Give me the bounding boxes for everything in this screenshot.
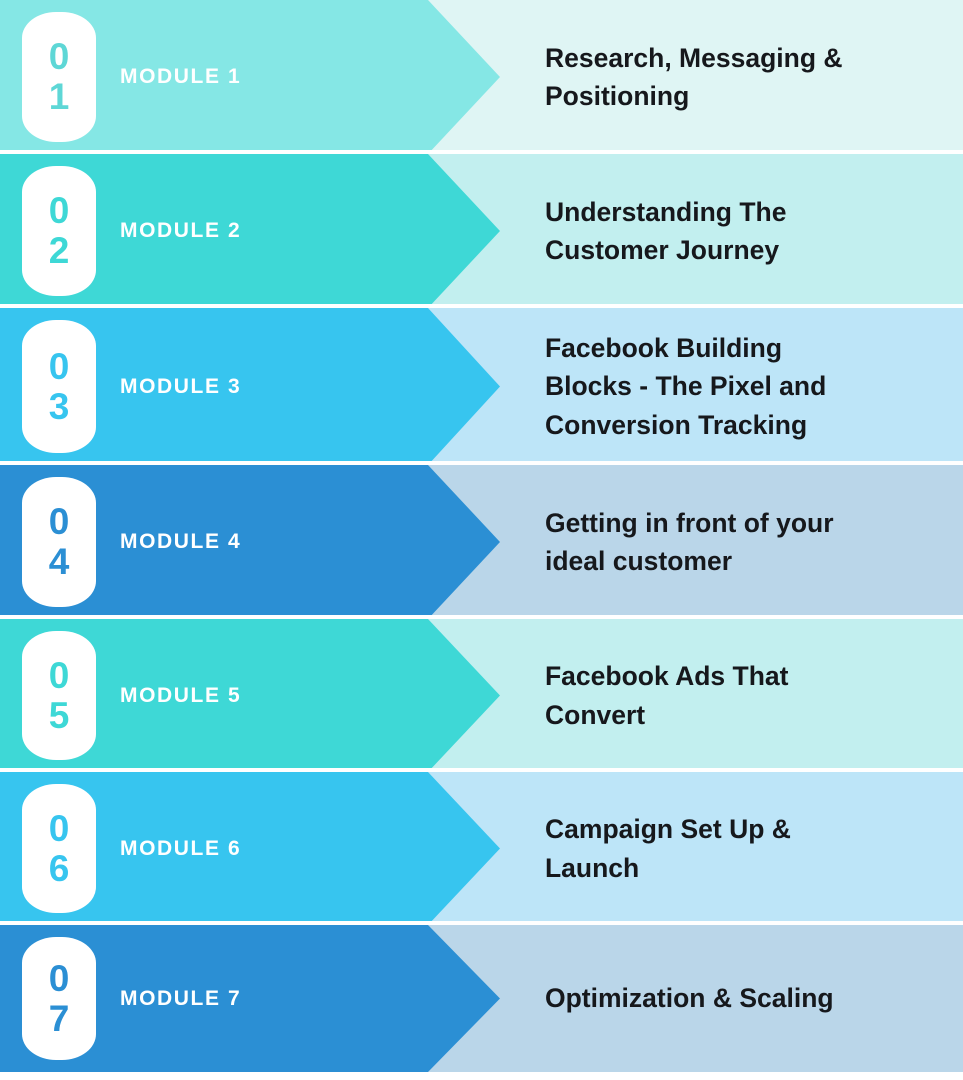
module-number-digit-top: 0 <box>49 502 70 542</box>
module-number-digit-bottom: 7 <box>49 999 70 1039</box>
row-separator <box>0 304 963 308</box>
module-title-line: Campaign Set Up & <box>545 810 791 848</box>
bottom-strip <box>0 1072 963 1080</box>
module-title-lines: Campaign Set Up &Launch <box>545 810 791 887</box>
module-title: Research, Messaging &Positioning <box>545 0 939 154</box>
module-row[interactable]: 07MODULE 7Optimization & Scaling <box>0 925 963 1072</box>
module-title: Facebook BuildingBlocks - The Pixel andC… <box>545 308 939 465</box>
module-title-line: Positioning <box>545 77 843 115</box>
module-title-lines: Getting in front of yourideal customer <box>545 504 834 581</box>
module-title: Understanding TheCustomer Journey <box>545 154 939 308</box>
module-number-digit-bottom: 1 <box>49 77 70 117</box>
module-number-badge: 07 <box>22 937 96 1060</box>
module-number-badge: 01 <box>22 12 96 142</box>
module-row[interactable]: 02MODULE 2Understanding TheCustomer Jour… <box>0 154 963 308</box>
module-row[interactable]: 04MODULE 4Getting in front of yourideal … <box>0 465 963 619</box>
module-number-digit-top: 0 <box>49 37 70 77</box>
module-title: Getting in front of yourideal customer <box>545 465 939 619</box>
module-title-line: Understanding The <box>545 193 786 231</box>
module-row[interactable]: 05MODULE 5Facebook Ads ThatConvert <box>0 619 963 772</box>
module-label: MODULE 7 <box>120 925 241 1072</box>
module-title: Campaign Set Up &Launch <box>545 772 939 925</box>
row-separator <box>0 768 963 772</box>
module-number-digit-bottom: 2 <box>49 231 70 271</box>
module-number-badge: 06 <box>22 784 96 913</box>
module-label: MODULE 3 <box>120 308 241 465</box>
module-number-badge: 03 <box>22 320 96 453</box>
module-label: MODULE 2 <box>120 154 241 308</box>
module-title-line: Research, Messaging & <box>545 39 843 77</box>
module-label: MODULE 6 <box>120 772 241 925</box>
module-title-line: Customer Journey <box>545 231 786 269</box>
module-title-lines: Optimization & Scaling <box>545 979 834 1017</box>
module-title: Facebook Ads ThatConvert <box>545 619 939 772</box>
module-title-lines: Understanding TheCustomer Journey <box>545 193 786 270</box>
module-number-badge: 02 <box>22 166 96 296</box>
module-number-digit-bottom: 5 <box>49 696 70 736</box>
module-number-digit-bottom: 3 <box>49 387 70 427</box>
module-title-line: Convert <box>545 696 788 734</box>
module-number-digit-top: 0 <box>49 959 70 999</box>
module-label: MODULE 4 <box>120 465 241 619</box>
module-roadmap: 01MODULE 1Research, Messaging &Positioni… <box>0 0 963 1080</box>
module-number-digit-top: 0 <box>49 347 70 387</box>
row-separator <box>0 150 963 154</box>
module-number-badge: 05 <box>22 631 96 760</box>
module-number-digit-top: 0 <box>49 809 70 849</box>
module-title-line: Launch <box>545 849 791 887</box>
module-title-line: ideal customer <box>545 542 834 580</box>
module-title-lines: Facebook Ads ThatConvert <box>545 657 788 734</box>
module-title-lines: Facebook BuildingBlocks - The Pixel andC… <box>545 329 826 444</box>
module-title-line: Blocks - The Pixel and <box>545 367 826 405</box>
module-title-line: Conversion Tracking <box>545 406 826 444</box>
module-row[interactable]: 01MODULE 1Research, Messaging &Positioni… <box>0 0 963 154</box>
module-label: MODULE 1 <box>120 0 241 154</box>
row-separator <box>0 615 963 619</box>
module-title-line: Facebook Ads That <box>545 657 788 695</box>
module-title-line: Optimization & Scaling <box>545 979 834 1017</box>
row-separator <box>0 921 963 925</box>
module-label: MODULE 5 <box>120 619 241 772</box>
row-separator <box>0 461 963 465</box>
module-title-line: Getting in front of your <box>545 504 834 542</box>
module-title-lines: Research, Messaging &Positioning <box>545 39 843 116</box>
module-number-digit-bottom: 4 <box>49 542 70 582</box>
module-title-line: Facebook Building <box>545 329 826 367</box>
module-number-digit-top: 0 <box>49 656 70 696</box>
module-row[interactable]: 06MODULE 6Campaign Set Up &Launch <box>0 772 963 925</box>
module-number-digit-top: 0 <box>49 191 70 231</box>
module-title: Optimization & Scaling <box>545 925 939 1072</box>
module-row[interactable]: 03MODULE 3Facebook BuildingBlocks - The … <box>0 308 963 465</box>
module-number-digit-bottom: 6 <box>49 849 70 889</box>
module-number-badge: 04 <box>22 477 96 607</box>
